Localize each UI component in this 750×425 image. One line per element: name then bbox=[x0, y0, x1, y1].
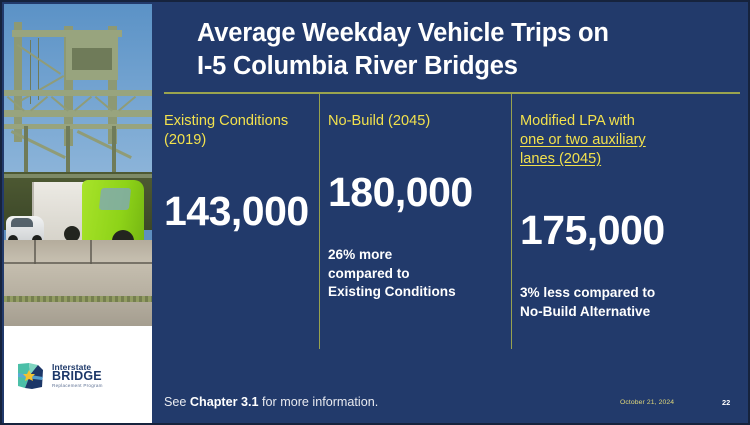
slide-page-number: 22 bbox=[722, 398, 730, 407]
stat-column-existing-conditions: Existing Conditions (2019) 143,000 bbox=[164, 112, 314, 232]
column-2-value: 180,000 bbox=[328, 172, 504, 213]
column-2-note-line-2: compared to bbox=[328, 265, 504, 284]
bridge-photo bbox=[4, 4, 152, 326]
truss-lift-base bbox=[66, 74, 118, 80]
slide: Interstate BRIDGE Replacement Program Av… bbox=[0, 0, 750, 425]
truck-windshield bbox=[99, 188, 131, 210]
column-3-value: 175,000 bbox=[520, 210, 742, 251]
deck-expansion-joint bbox=[4, 296, 152, 302]
page-title: Average Weekday Vehicle Trips on I-5 Col… bbox=[197, 17, 737, 83]
column-divider-2 bbox=[511, 94, 512, 349]
slide-content: Average Weekday Vehicle Trips on I-5 Col… bbox=[152, 4, 750, 425]
column-divider-1 bbox=[319, 94, 320, 349]
column-3-note-line-2: No-Build Alternative bbox=[520, 303, 742, 322]
column-3-note-line-1: 3% less compared to bbox=[520, 284, 742, 303]
footnote: See Chapter 3.1 for more information. bbox=[164, 395, 378, 409]
footnote-prefix: See bbox=[164, 395, 190, 409]
truss-lift-panel bbox=[72, 48, 112, 70]
column-3-heading: Modified LPA with one or two auxiliary l… bbox=[520, 112, 742, 169]
column-2-heading: No-Build (2045) bbox=[328, 112, 504, 131]
deck-seam-3 bbox=[90, 240, 92, 264]
logo-text: Interstate BRIDGE Replacement Program bbox=[52, 363, 103, 389]
interstate-bridge-logo-icon bbox=[16, 361, 46, 391]
truss-chord-lower bbox=[4, 110, 152, 117]
column-1-heading: Existing Conditions (2019) bbox=[164, 112, 314, 150]
bridge-deck bbox=[4, 240, 152, 326]
deck-seam-1 bbox=[4, 262, 152, 264]
column-3-heading-link-line-2[interactable]: lanes (2045) bbox=[520, 150, 742, 169]
truss-chord-upper bbox=[4, 90, 152, 96]
column-3-note: 3% less compared to No-Build Alternative bbox=[520, 284, 742, 322]
photo-column: Interstate BRIDGE Replacement Program bbox=[4, 4, 152, 425]
truss-post-1 bbox=[24, 126, 28, 178]
car-windshield bbox=[11, 218, 33, 227]
column-1-heading-line-2: (2019) bbox=[164, 131, 314, 150]
stat-column-modified-lpa: Modified LPA with one or two auxiliary l… bbox=[520, 112, 742, 321]
logo-line-bridge: BRIDGE bbox=[52, 370, 103, 383]
truss-post-2 bbox=[66, 126, 70, 178]
title-line-1: Average Weekday Vehicle Trips on bbox=[197, 17, 737, 50]
column-1-value: 143,000 bbox=[164, 191, 314, 232]
stat-column-no-build: No-Build (2045) 180,000 26% more compare… bbox=[328, 112, 504, 302]
column-2-note: 26% more compared to Existing Conditions bbox=[328, 246, 504, 302]
horizontal-divider bbox=[164, 92, 740, 94]
bridge-railing bbox=[4, 174, 152, 178]
column-1-heading-line-1: Existing Conditions bbox=[164, 112, 314, 131]
slide-date: October 21, 2024 bbox=[620, 399, 674, 406]
logo-line-replacement-program: Replacement Program bbox=[52, 384, 103, 389]
column-2-heading-line-1: No-Build (2045) bbox=[328, 112, 504, 131]
title-line-2: I-5 Columbia River Bridges bbox=[197, 50, 737, 83]
footnote-chapter-link[interactable]: Chapter 3.1 bbox=[190, 395, 259, 409]
footnote-suffix: for more information. bbox=[259, 395, 379, 409]
column-3-heading-link-line-1[interactable]: one or two auxiliary bbox=[520, 131, 742, 150]
column-3-heading-line-1: Modified LPA with bbox=[520, 112, 742, 131]
column-2-note-line-1: 26% more bbox=[328, 246, 504, 265]
truss-post-3 bbox=[112, 126, 116, 178]
logo-area: Interstate BRIDGE Replacement Program bbox=[4, 326, 152, 425]
column-2-note-line-3: Existing Conditions bbox=[328, 283, 504, 302]
deck-seam-2 bbox=[34, 240, 36, 264]
